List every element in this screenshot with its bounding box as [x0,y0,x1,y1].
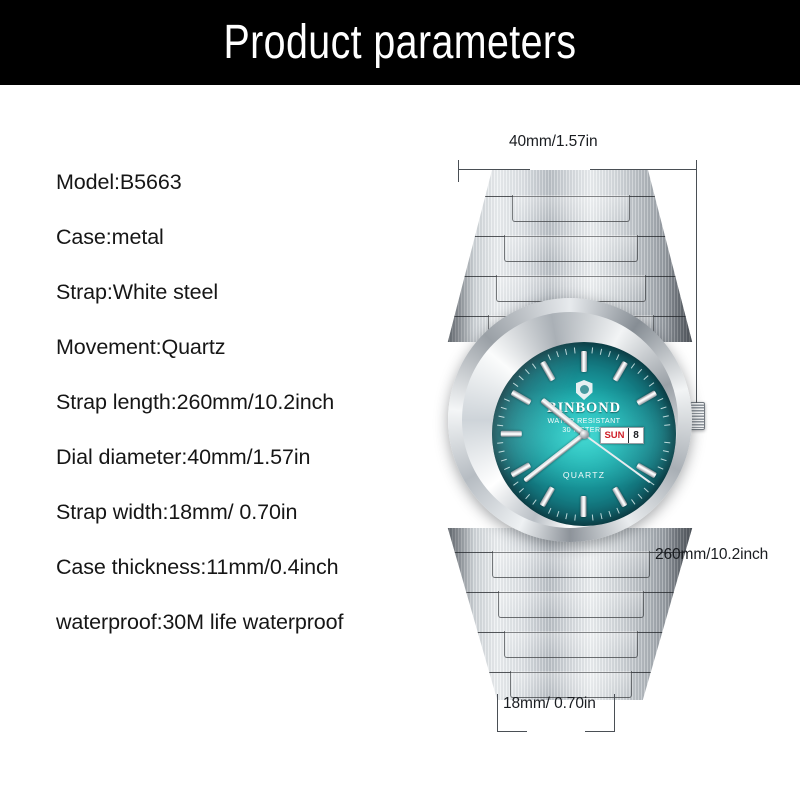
dimension-line-bottom-right [585,731,615,732]
dimension-tick-bottom-right [614,694,615,732]
spec-item-dial-diameter: Dial diameter:40mm/1.57in [56,447,456,469]
spec-list: Model:B5663 Case:metal Strap:White steel… [56,172,456,634]
header-banner: Product parameters [0,0,800,85]
dimension-tick-top-left [458,160,459,182]
spec-item-strap-width: Strap width:18mm/ 0.70in [56,502,456,524]
spec-item-case-thickness: Case thickness:11mm/0.4inch [56,557,456,579]
dimension-line-top-left [458,169,530,170]
spec-item-case: Case:metal [56,227,456,249]
product-parameters-page: Product parameters Model:B5663 Case:meta… [0,0,800,800]
spec-item-strap: Strap:White steel [56,282,456,304]
dimension-label-top-width: 40mm/1.57in [509,133,598,151]
dimension-label-strap-length: 260mm/10.2inch [655,546,768,564]
dimension-tick-bottom-left [497,694,498,732]
spec-item-waterproof: waterproof:30M life waterproof [56,612,456,634]
dimension-label-bottom-width: 18mm/ 0.70in [503,695,596,713]
page-title: Product parameters [72,0,728,85]
dimension-line-bottom-left [497,731,527,732]
spec-item-movement: Movement:Quartz [56,337,456,359]
spec-item-strap-length: Strap length:260mm/10.2inch [56,392,456,414]
spec-item-model: Model:B5663 [56,172,456,194]
dimension-line-top-right [590,169,696,170]
